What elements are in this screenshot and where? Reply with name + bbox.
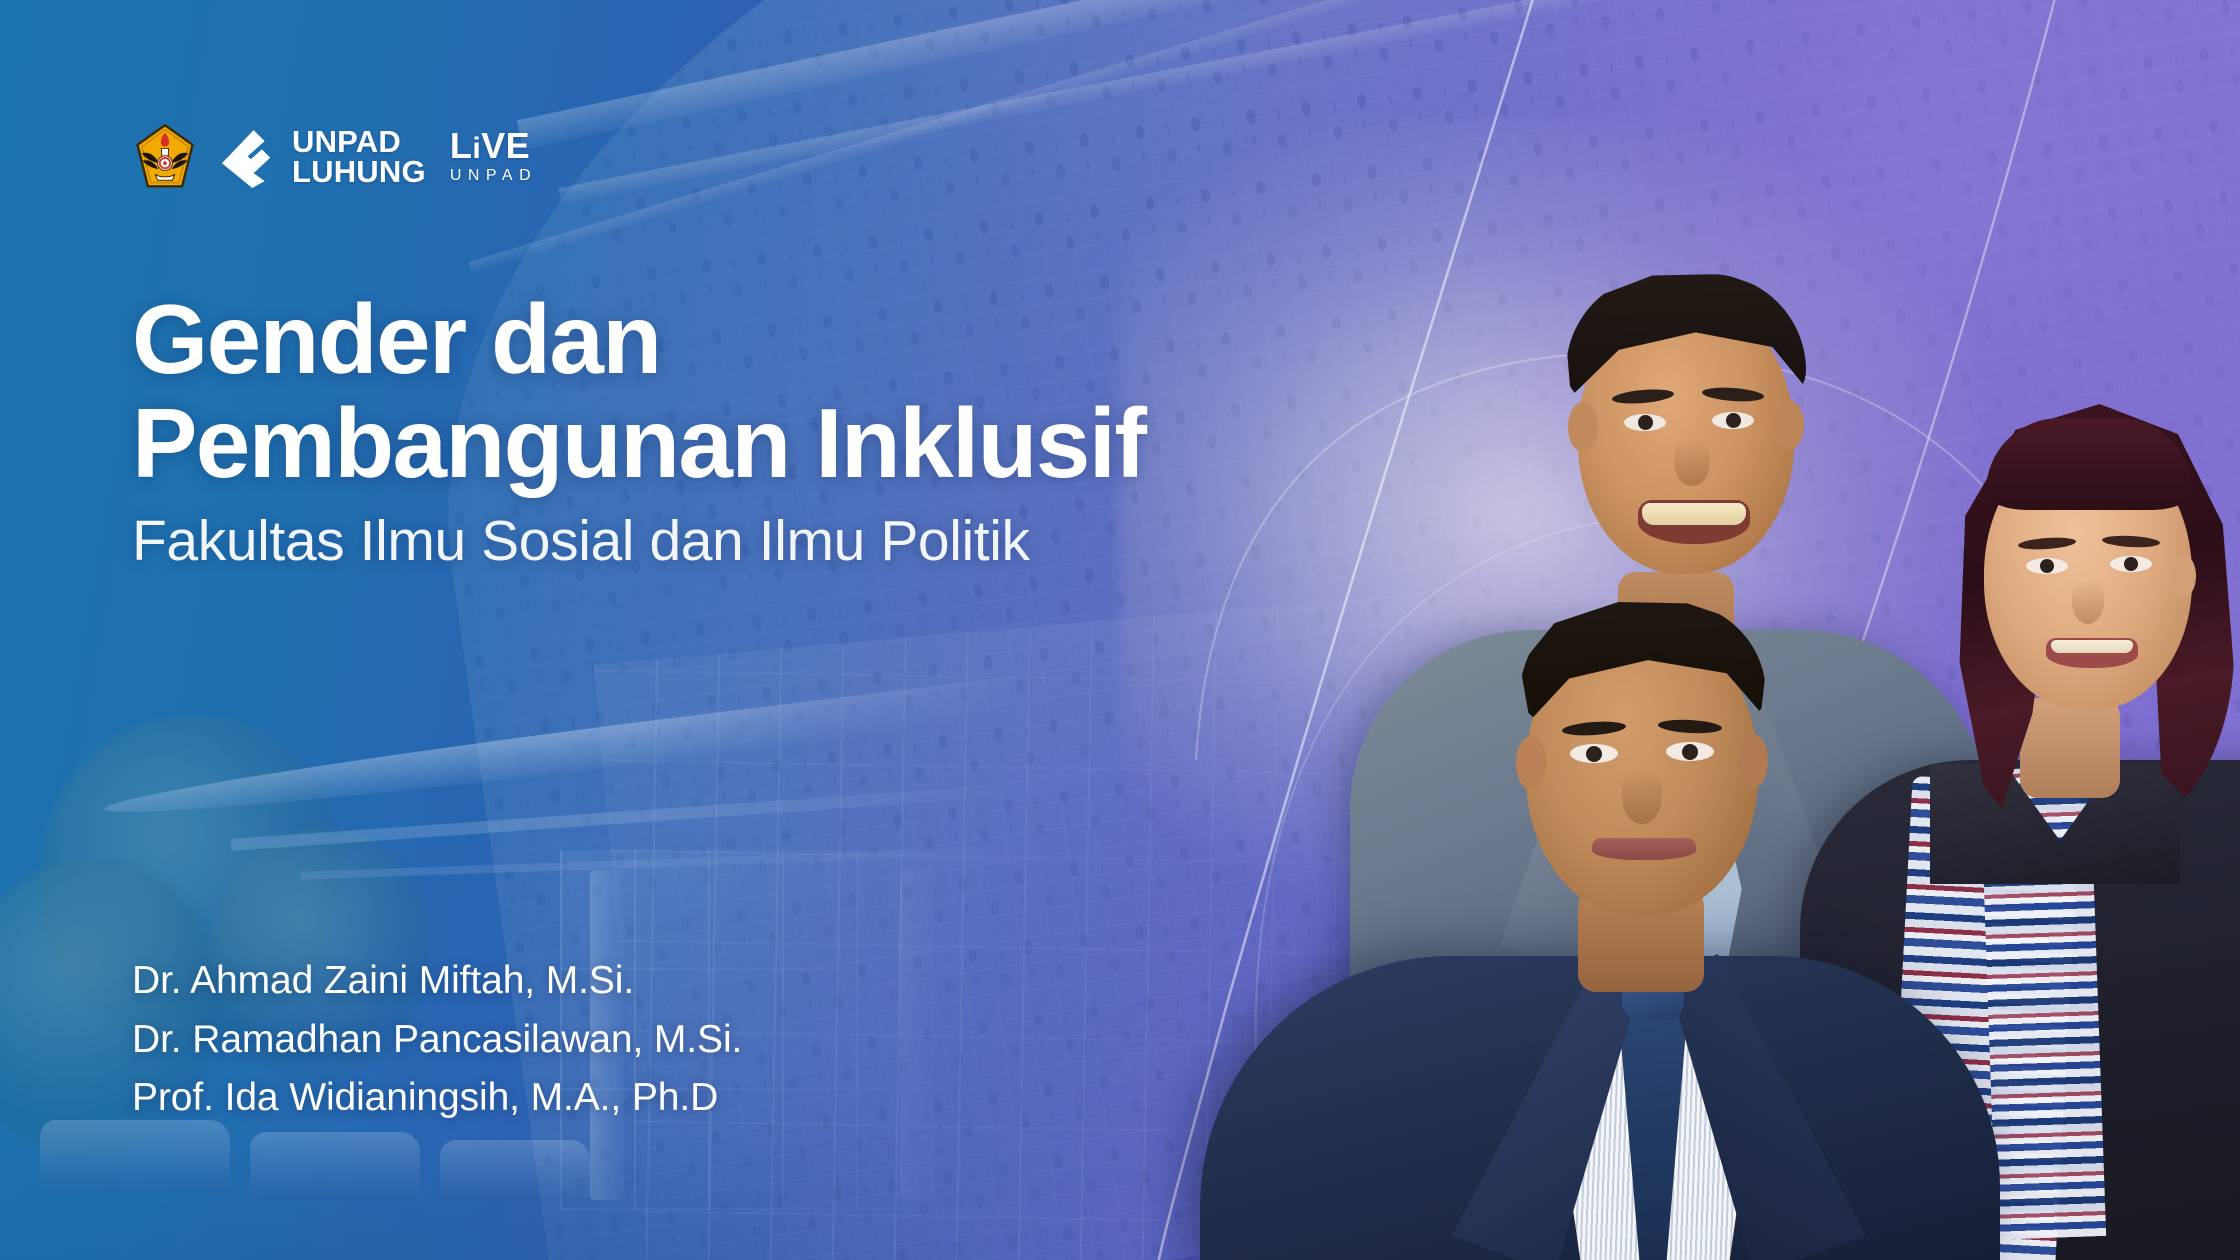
mouth xyxy=(2046,638,2138,668)
ear-right xyxy=(1774,400,1804,450)
live-letter-i: i xyxy=(472,132,481,165)
neck xyxy=(2020,698,2120,798)
pupil-right xyxy=(1682,744,1698,760)
nose xyxy=(1674,438,1710,486)
ear-left xyxy=(1568,402,1598,452)
teeth xyxy=(2051,640,2133,653)
mouth xyxy=(1592,838,1696,860)
ear-left xyxy=(1516,736,1546,790)
pupil-right xyxy=(2124,557,2138,571)
pupil-left xyxy=(1586,746,1602,762)
pupil-right xyxy=(1726,413,1741,428)
slide-canvas: UNPAD LUHUNG LiVE UNPAD Gender dan Pemba… xyxy=(0,0,2240,1260)
unpad-luhung-wordmark: UNPAD LUHUNG xyxy=(292,127,426,187)
unpad-seal-icon xyxy=(134,124,196,190)
hair-front xyxy=(1986,418,2192,510)
mouth xyxy=(1638,500,1750,544)
page-subtitle: Fakultas Ilmu Sosial dan Ilmu Politik xyxy=(132,510,1462,574)
ear-right xyxy=(2170,554,2196,598)
live-letters-ve: VE xyxy=(481,125,530,166)
page-title-line-1: Gender dan xyxy=(132,288,1462,392)
wordmark-line-2: LUHUNG xyxy=(292,157,426,187)
ear-right xyxy=(1738,734,1768,788)
live-wordmark: LiVE xyxy=(450,129,537,163)
nose xyxy=(1622,770,1662,824)
speaker-name: Prof. Ida Widianingsih, M.A., Ph.D xyxy=(132,1069,742,1128)
page-title-line-2: Pembangunan Inklusif xyxy=(132,392,1462,496)
speaker-list: Dr. Ahmad Zaini Miftah, M.Si. Dr. Ramadh… xyxy=(132,952,742,1128)
teeth xyxy=(1642,503,1746,525)
hero-text-block: Gender dan Pembangunan Inklusif Fakultas… xyxy=(132,288,1462,574)
pupil-left xyxy=(1638,415,1653,430)
speaker-name: Dr. Ahmad Zaini Miftah, M.Si. xyxy=(132,952,742,1011)
unpad-chevron-icon xyxy=(216,126,272,188)
speaker-name: Dr. Ramadhan Pancasilawan, M.Si. xyxy=(132,1011,742,1070)
live-letter-l: L xyxy=(450,125,473,166)
pupil-left xyxy=(2040,559,2054,573)
live-unpad-subtext: UNPAD xyxy=(450,166,537,185)
live-unpad-logo: LiVE UNPAD xyxy=(450,129,537,185)
brand-logo-lockup[interactable]: UNPAD LUHUNG LiVE UNPAD xyxy=(134,124,537,190)
portrait-speaker-front-left xyxy=(1330,620,1890,1260)
nose xyxy=(2072,580,2104,624)
